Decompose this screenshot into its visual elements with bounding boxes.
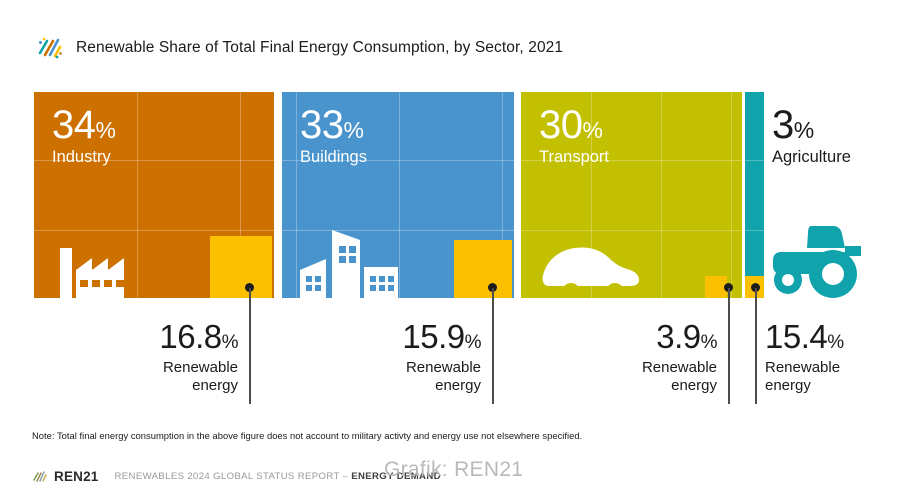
sector-name-buildings: Buildings: [300, 149, 367, 166]
renewable-square-buildings[interactable]: [454, 240, 512, 298]
sector-percent-transport: 30: [539, 103, 583, 147]
renewable-value-transport: 3.9: [656, 318, 700, 355]
renewable-caption-line1: Renewable: [300, 359, 481, 377]
header: Renewable Share of Total Final Energy Co…: [34, 30, 874, 66]
footer-branding: REN21 RENEWABLES 2024 GLOBAL STATUS REPO…: [32, 466, 441, 486]
percent-sign: %: [827, 332, 843, 353]
ren21-logo-icon: [34, 33, 64, 63]
connector-line-industry: [249, 288, 251, 404]
percent-sign: %: [794, 117, 814, 143]
ren21-footer-logo-icon: [32, 470, 49, 483]
page-title-year: 2021: [528, 39, 563, 56]
gridlines-agriculture: [745, 92, 764, 298]
car-icon: [541, 242, 641, 298]
report-title-prefix: RENEWABLES 2024 GLOBAL STATUS REPORT –: [115, 471, 352, 482]
sector-block-agriculture[interactable]: [745, 92, 764, 298]
renewable-caption-line1: Renewable: [765, 359, 895, 377]
sector-name-transport: Transport: [539, 149, 609, 166]
footnote: Note: Total final energy consumption in …: [32, 430, 582, 441]
sector-block-industry[interactable]: 34% Industry: [34, 92, 274, 298]
percent-sign: %: [344, 117, 364, 143]
sector-label-transport: 30% Transport: [539, 106, 609, 166]
renewable-value-buildings: 15.9: [402, 318, 464, 355]
percent-sign: %: [701, 332, 717, 353]
callout-transport: 3.9% Renewable energy: [540, 320, 717, 394]
connector-line-buildings: [492, 288, 494, 404]
percent-sign: %: [96, 117, 116, 143]
tractor-icon: [771, 220, 867, 298]
ren21-wordmark: REN21: [54, 469, 99, 484]
sector-label-buildings: 33% Buildings: [300, 106, 367, 166]
sector-block-buildings[interactable]: 33% Buildings: [282, 92, 514, 298]
sector-name-agriculture: Agriculture: [772, 149, 851, 166]
page-title: Renewable Share of Total Final Energy Co…: [76, 39, 563, 57]
buildings-icon: [298, 222, 404, 298]
renewable-caption-line1: Renewable: [540, 359, 717, 377]
renewable-caption-line2: energy: [60, 377, 238, 395]
renewable-caption-line2: energy: [765, 377, 895, 395]
percent-sign: %: [583, 117, 603, 143]
renewable-value-industry: 16.8: [159, 318, 221, 355]
renewable-caption-line2: energy: [540, 377, 717, 395]
page-title-main: Renewable Share of Total Final Energy Co…: [76, 39, 524, 56]
sector-percent-agriculture: 3: [772, 103, 794, 147]
connector-line-transport: [728, 288, 730, 404]
callout-buildings: 15.9% Renewable energy: [300, 320, 481, 394]
sector-block-transport[interactable]: 30% Transport: [521, 92, 742, 298]
graphic-credit-watermark: Grafik: REN21: [384, 458, 523, 482]
infographic-page: Renewable Share of Total Final Energy Co…: [0, 0, 907, 502]
sector-label-agriculture: 3% Agriculture: [772, 106, 851, 166]
renewable-value-agriculture: 15.4: [765, 318, 827, 355]
sector-name-industry: Industry: [52, 149, 116, 166]
sector-percent-industry: 34: [52, 103, 96, 147]
renewable-caption-line1: Renewable: [60, 359, 238, 377]
renewable-caption-line2: energy: [300, 377, 481, 395]
factory-icon: [56, 226, 142, 298]
percent-sign: %: [465, 332, 481, 353]
chart-area: 34% Industry: [34, 92, 874, 298]
sector-percent-buildings: 33: [300, 103, 344, 147]
callout-agriculture: 15.4% Renewable energy: [765, 320, 895, 394]
connector-line-agriculture: [755, 288, 757, 404]
sector-label-industry: 34% Industry: [52, 106, 116, 166]
callout-industry: 16.8% Renewable energy: [60, 320, 238, 394]
renewable-square-industry[interactable]: [210, 236, 272, 298]
percent-sign: %: [222, 332, 238, 353]
